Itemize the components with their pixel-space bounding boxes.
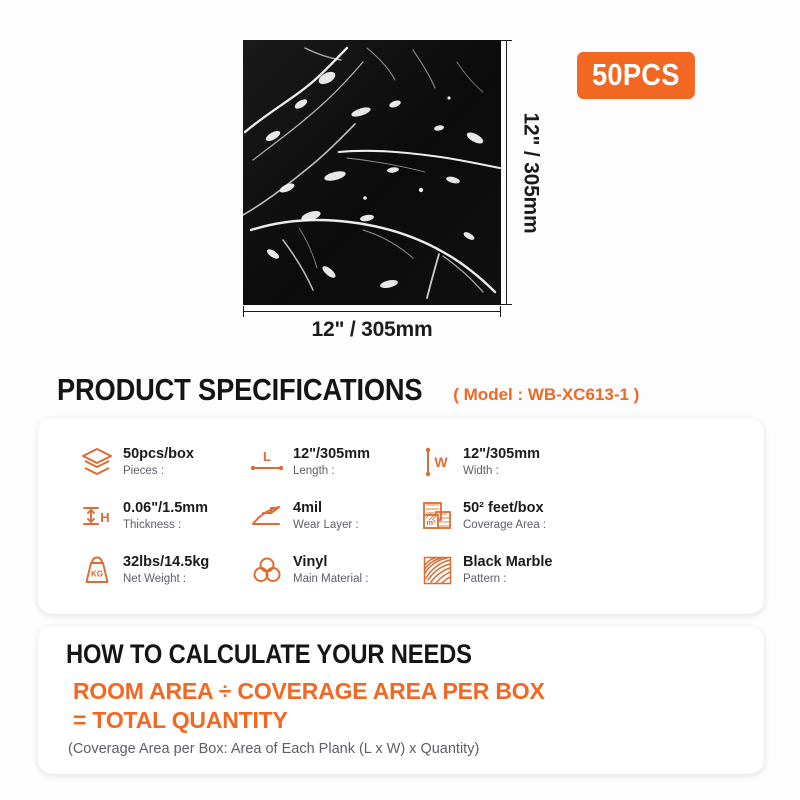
- hero-section: 12" / 305mm 12" / 305mm 50PCS: [0, 0, 800, 352]
- page-title: PRODUCT SPECIFICATIONS: [57, 372, 422, 408]
- specifications-heading: PRODUCT SPECIFICATIONS ( Model : WB-XC61…: [57, 372, 639, 408]
- pieces-count-badge: 50PCS: [577, 52, 695, 99]
- spec-label: Thickness :: [123, 518, 208, 533]
- spec-value: 12"/305mm: [293, 445, 370, 463]
- calculator-formula-line-2: = TOTAL QUANTITY: [73, 707, 288, 734]
- length-ruler-icon: L: [250, 445, 284, 479]
- spec-item-coverage-area: m² 50² feet/box Coverage Area :: [420, 489, 590, 543]
- spec-value: 0.06"/1.5mm: [123, 499, 208, 517]
- spec-value: 50² feet/box: [463, 499, 546, 517]
- spec-label: Pattern :: [463, 572, 552, 587]
- spec-item-pattern: Black Marble Pattern :: [420, 543, 590, 597]
- spec-label: Net Weight :: [123, 572, 209, 587]
- height-dimension-bracket: [506, 40, 507, 305]
- spec-item-main-material: Vinyl Main Material :: [250, 543, 420, 597]
- coverage-area-icon: m²: [420, 499, 454, 533]
- spec-item-width: W 12"/305mm Width :: [420, 435, 590, 489]
- specifications-grid: 50pcs/box Pieces : L 12"/305mm Length :: [80, 435, 740, 597]
- spec-value: 12"/305mm: [463, 445, 540, 463]
- spec-value: 4mil: [293, 499, 359, 517]
- spec-item-length: L 12"/305mm Length :: [250, 435, 420, 489]
- spec-label: Main Material :: [293, 572, 368, 587]
- model-number: ( Model : WB-XC613-1 ): [453, 385, 639, 405]
- stacked-layers-icon: [80, 445, 114, 479]
- spec-item-thickness: H 0.06"/1.5mm Thickness :: [80, 489, 250, 543]
- width-ruler-icon: W: [420, 445, 454, 479]
- calculator-card: HOW TO CALCULATE YOUR NEEDS ROOM AREA ÷ …: [38, 626, 764, 774]
- spec-label: Coverage Area :: [463, 518, 546, 533]
- marble-vein-illustration: [243, 40, 501, 305]
- spec-label: Length :: [293, 464, 370, 479]
- svg-text:H: H: [100, 510, 109, 525]
- net-weight-icon: KG: [80, 553, 114, 587]
- specifications-card: 50pcs/box Pieces : L 12"/305mm Length :: [38, 418, 764, 614]
- calculator-title: HOW TO CALCULATE YOUR NEEDS: [66, 639, 472, 670]
- svg-text:KG: KG: [91, 570, 103, 579]
- spec-value: Vinyl: [293, 553, 368, 571]
- spec-item-net-weight: KG 32lbs/14.5kg Net Weight :: [80, 543, 250, 597]
- spec-value: Black Marble: [463, 553, 552, 571]
- width-dimension-label: 12" / 305mm: [243, 318, 501, 342]
- product-tile-image: [243, 40, 501, 305]
- svg-text:W: W: [434, 454, 448, 470]
- spec-item-pieces: 50pcs/box Pieces :: [80, 435, 250, 489]
- height-dimension-label: 12" / 305mm: [512, 40, 548, 305]
- wood-pattern-icon: [420, 553, 454, 587]
- svg-text:L: L: [263, 449, 271, 464]
- height-dimension-text: 12" / 305mm: [518, 112, 542, 233]
- thickness-icon: H: [80, 499, 114, 533]
- width-dimension-bracket: [243, 311, 501, 312]
- spec-item-wear-layer: 4mil Wear Layer :: [250, 489, 420, 543]
- material-circles-icon: [250, 553, 284, 587]
- spec-value: 32lbs/14.5kg: [123, 553, 209, 571]
- svg-text:m²: m²: [426, 518, 436, 527]
- black-marble-swatch: [243, 40, 501, 305]
- calculator-note: (Coverage Area per Box: Area of Each Pla…: [68, 741, 479, 757]
- spec-label: Width :: [463, 464, 540, 479]
- wear-layer-icon: [250, 499, 284, 533]
- spec-label: Pieces :: [123, 464, 194, 479]
- spec-label: Wear Layer :: [293, 518, 359, 533]
- spec-value: 50pcs/box: [123, 445, 194, 463]
- calculator-formula-line-1: ROOM AREA ÷ COVERAGE AREA PER BOX: [73, 678, 545, 705]
